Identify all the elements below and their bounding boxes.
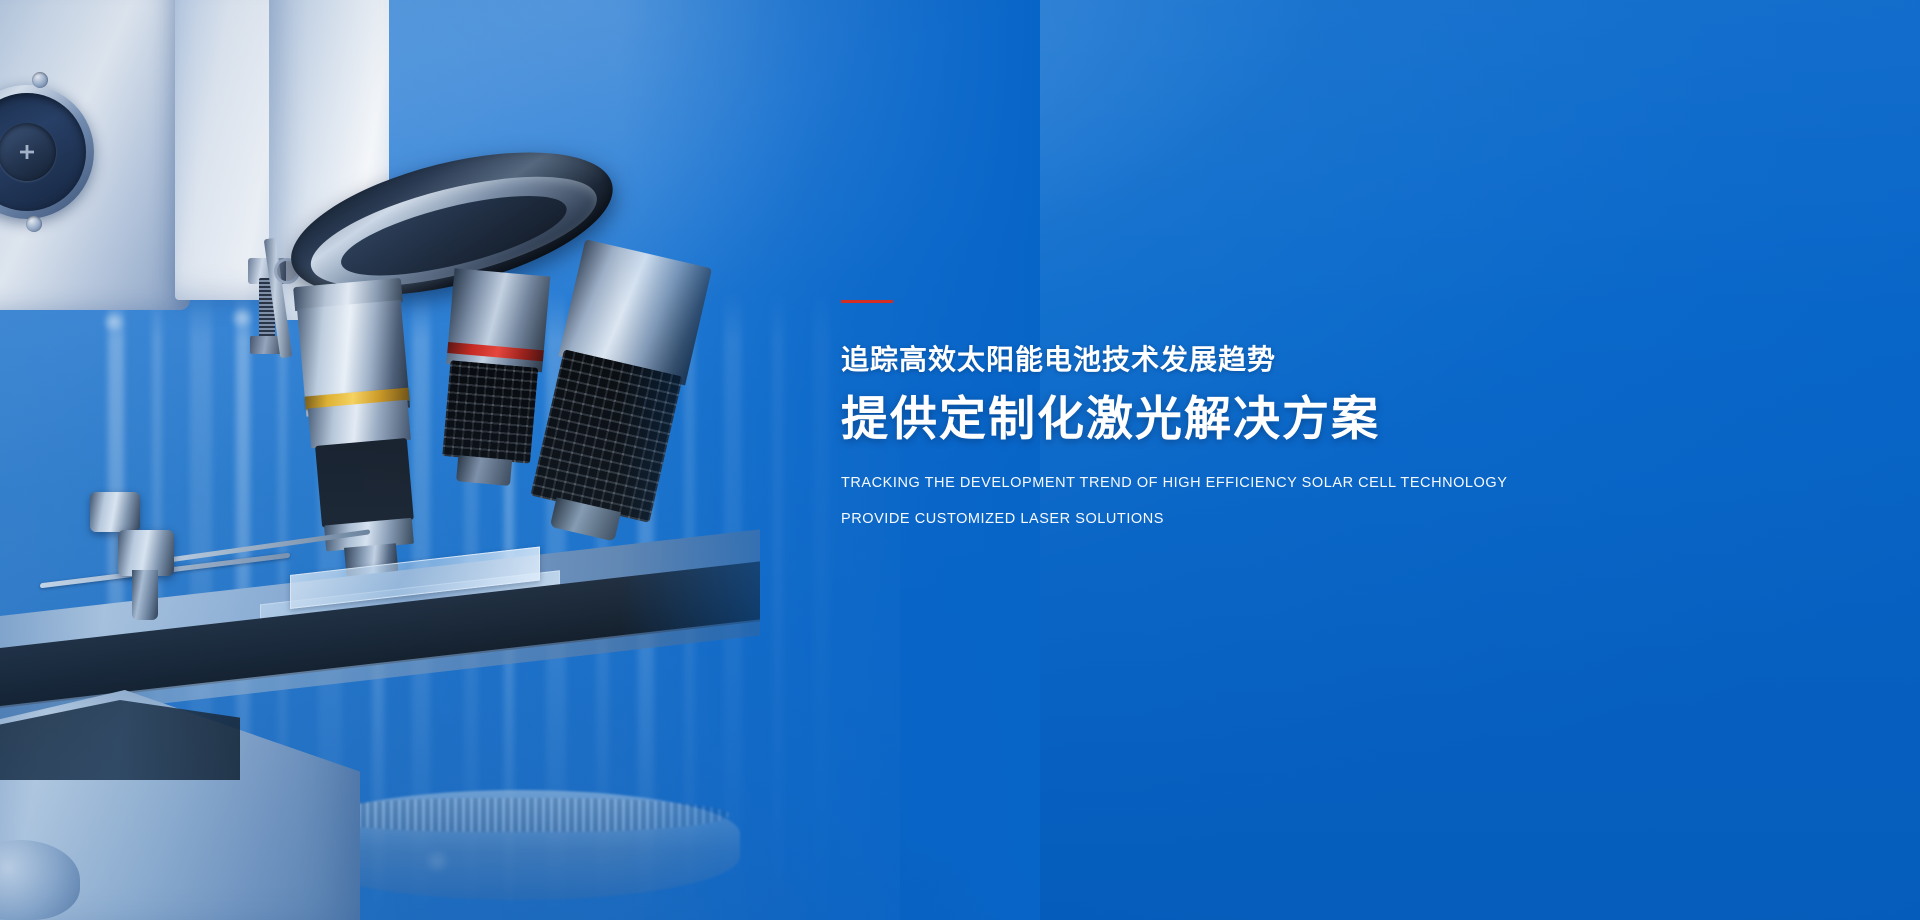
hero-headline: 提供定制化激光解决方案: [841, 391, 1881, 447]
hero-subtitle: 追踪高效太阳能电池技术发展趋势: [841, 343, 1881, 377]
hero-english-line-1: TRACKING THE DEVELOPMENT TREND OF HIGH E…: [841, 473, 1881, 495]
hero-english-line-2: PROVIDE CUSTOMIZED LASER SOLUTIONS: [841, 509, 1881, 531]
hero-banner: 追踪高效太阳能电池技术发展趋势 提供定制化激光解决方案 TRACKING THE…: [0, 0, 1920, 920]
accent-divider: [841, 300, 893, 303]
hero-text-block: 追踪高效太阳能电池技术发展趋势 提供定制化激光解决方案 TRACKING THE…: [841, 300, 1881, 530]
